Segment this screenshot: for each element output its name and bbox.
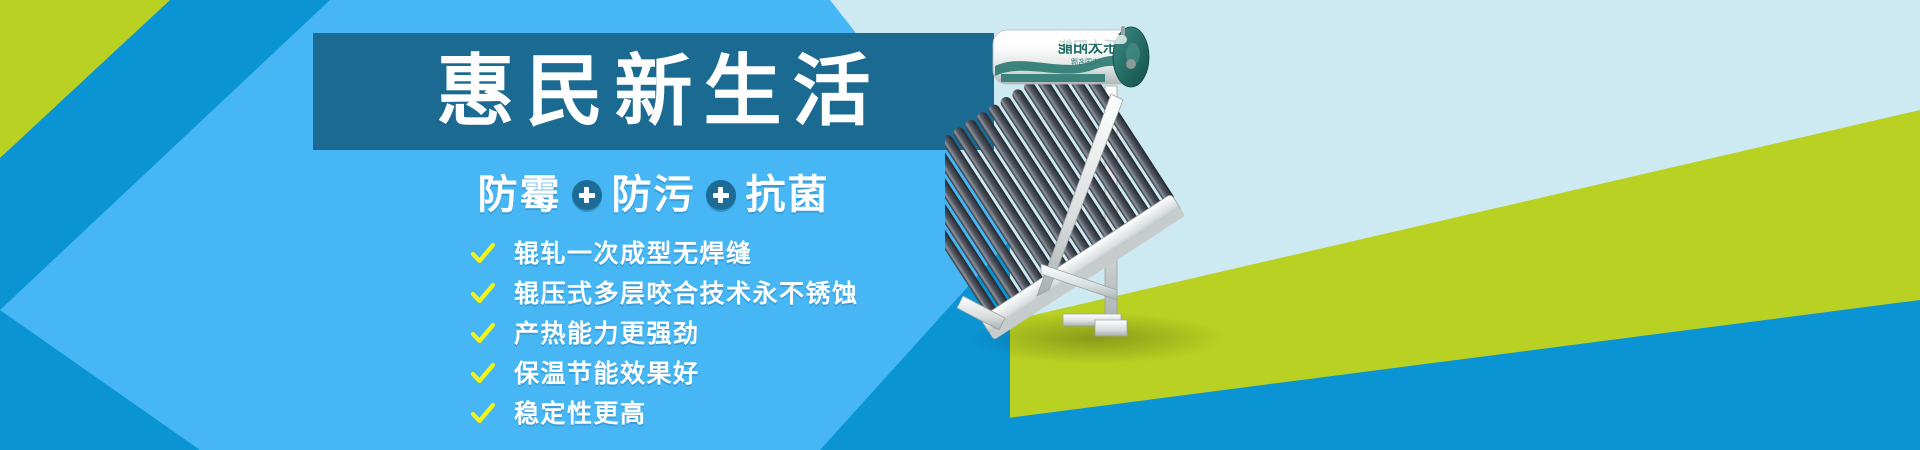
feature-list: 辊轧一次成型无焊缝 辊压式多层咬合技术永不锈蚀 产热能力更强劲 保温节能效果好 bbox=[470, 238, 859, 429]
plus-icon bbox=[706, 180, 736, 210]
tank-inlet-pipe bbox=[1121, 26, 1125, 36]
evacuated-tube-array bbox=[945, 49, 1186, 340]
subtitle-part-3: 抗菌 bbox=[746, 175, 830, 215]
feature-label: 辊轧一次成型无焊缝 bbox=[514, 241, 753, 266]
headline-box: 惠民新生活 bbox=[313, 33, 994, 150]
feature-label: 产热能力更强劲 bbox=[514, 321, 700, 346]
feature-label: 稳定性更高 bbox=[514, 401, 647, 426]
subtitle-part-2: 防污 bbox=[612, 175, 696, 215]
check-icon bbox=[470, 361, 496, 387]
list-item: 产热能力更强劲 bbox=[470, 318, 859, 349]
plus-icon bbox=[572, 180, 602, 210]
subtitle-part-1: 防霉 bbox=[478, 175, 562, 215]
tank-sub-text: 中国名牌 bbox=[1071, 57, 1099, 66]
product-image-solar-water-heater: 桑乐太阳能 中国名牌 bbox=[945, 8, 1365, 378]
check-icon bbox=[470, 281, 496, 307]
page-title: 惠民新生活 bbox=[425, 53, 881, 131]
water-tank: 桑乐太阳能 中国名牌 bbox=[993, 26, 1149, 87]
check-icon bbox=[470, 241, 496, 267]
list-item: 稳定性更高 bbox=[470, 398, 859, 429]
list-item: 辊压式多层咬合技术永不锈蚀 bbox=[470, 278, 859, 309]
check-icon bbox=[470, 321, 496, 347]
tank-highlight bbox=[999, 35, 1127, 44]
copy-block: 惠民新生活 防霉 防污 抗菌 辊轧一次成型无焊缝 辊压式多层咬合技术永不锈蚀 bbox=[0, 0, 1000, 450]
check-icon bbox=[470, 401, 496, 427]
tank-bar-graphic bbox=[1001, 74, 1105, 82]
tank-cap-port bbox=[1126, 59, 1136, 69]
feature-label: 保温节能效果好 bbox=[514, 361, 700, 386]
feature-label: 辊压式多层咬合技术永不锈蚀 bbox=[514, 281, 859, 306]
solar-water-heater-illustration: 桑乐太阳能 中国名牌 bbox=[945, 8, 1365, 378]
subtitle-row: 防霉 防污 抗菌 bbox=[313, 175, 994, 215]
list-item: 辊轧一次成型无焊缝 bbox=[470, 238, 859, 269]
list-item: 保温节能效果好 bbox=[470, 358, 859, 389]
promo-banner: 惠民新生活 防霉 防污 抗菌 辊轧一次成型无焊缝 辊压式多层咬合技术永不锈蚀 bbox=[0, 0, 1920, 450]
